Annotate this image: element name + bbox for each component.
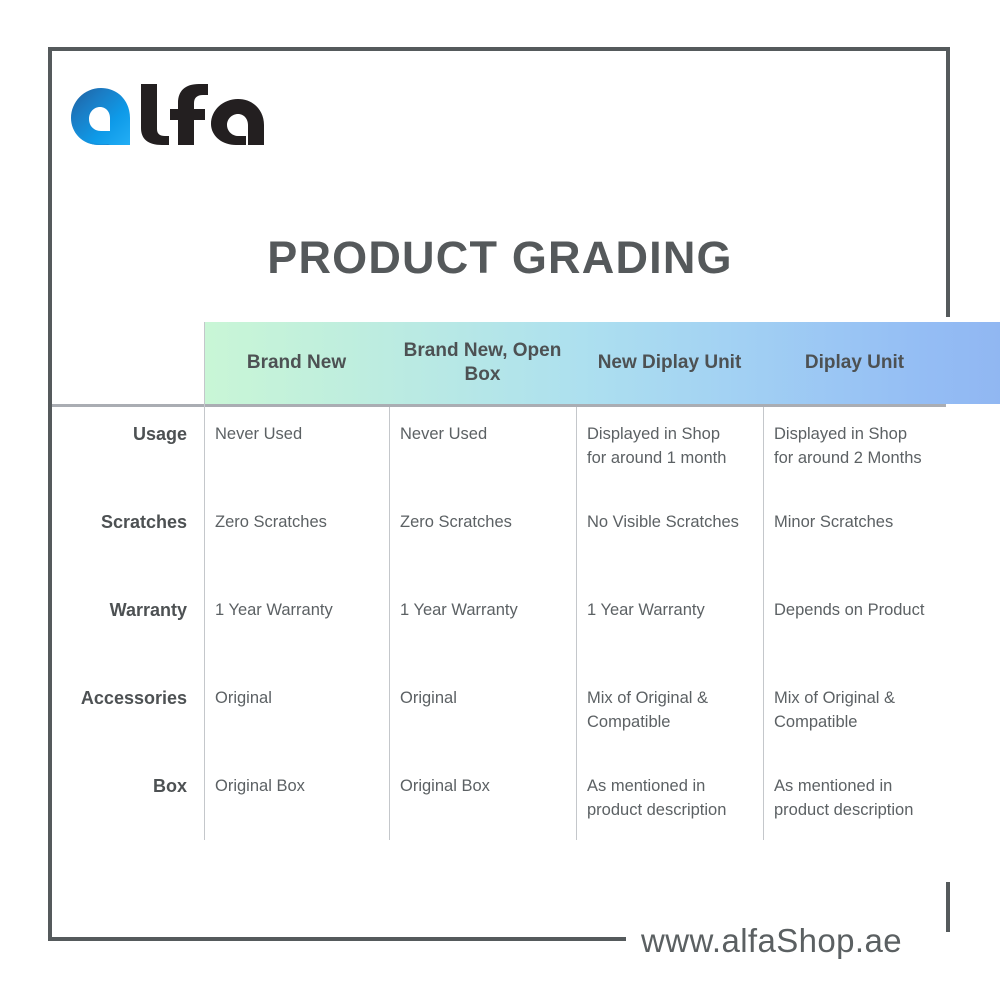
- cell-accessories-brand-new: Original: [204, 687, 389, 711]
- frame-border-bottom: [48, 937, 626, 941]
- product-grading-infographic: PRODUCT GRADING Brand New Brand New, Ope…: [0, 0, 1000, 1000]
- cell-usage-new-display-unit: Displayed in Shop for around 1 month: [576, 423, 763, 471]
- cell-scratches-new-display-unit: No Visible Scratches: [576, 511, 763, 535]
- cell-box-display-unit: As mentioned in product description: [763, 775, 946, 823]
- cell-scratches-display-unit: Minor Scratches: [763, 511, 946, 535]
- cell-accessories-display-unit: Mix of Original & Compatible: [763, 687, 946, 735]
- alfa-logo: [68, 82, 268, 152]
- product-grading-table: Brand New Brand New, Open Box New Diplay…: [52, 322, 946, 863]
- column-divider-0: [204, 322, 205, 840]
- column-header-brand-new-open-box: Brand New, Open Box: [389, 322, 576, 404]
- cell-warranty-brand-new: 1 Year Warranty: [204, 599, 389, 623]
- cell-warranty-open-box: 1 Year Warranty: [389, 599, 576, 623]
- table-header-row: Brand New Brand New, Open Box New Diplay…: [52, 322, 946, 404]
- frame-border-right-lower: [946, 882, 950, 932]
- cell-warranty-display-unit: Depends on Product: [763, 599, 946, 623]
- table-row: Scratches Zero Scratches Zero Scratches …: [52, 511, 946, 599]
- column-divider-2: [576, 407, 577, 840]
- cell-usage-display-unit: Displayed in Shop for around 2 Months: [763, 423, 946, 471]
- header-corner-cell: [52, 322, 204, 404]
- table-grid: Brand New Brand New, Open Box New Diplay…: [52, 322, 946, 863]
- row-label-scratches: Scratches: [52, 511, 204, 534]
- cell-scratches-open-box: Zero Scratches: [389, 511, 576, 535]
- column-divider-3: [763, 407, 764, 840]
- website-url: www.alfaShop.ae: [641, 922, 902, 960]
- cell-accessories-new-display-unit: Mix of Original & Compatible: [576, 687, 763, 735]
- table-row: Usage Never Used Never Used Displayed in…: [52, 407, 946, 511]
- logo-letter-a: [211, 99, 264, 145]
- table-row: Box Original Box Original Box As mention…: [52, 775, 946, 863]
- table-body: Usage Never Used Never Used Displayed in…: [52, 404, 946, 863]
- header-divider-line: [52, 404, 946, 407]
- cell-usage-open-box: Never Used: [389, 423, 576, 447]
- alfa-logo-icon: [68, 82, 268, 152]
- cell-usage-brand-new: Never Used: [204, 423, 389, 447]
- row-label-accessories: Accessories: [52, 687, 204, 710]
- row-label-box: Box: [52, 775, 204, 798]
- table-row: Warranty 1 Year Warranty 1 Year Warranty…: [52, 599, 946, 687]
- logo-letter-l: [141, 84, 169, 145]
- column-header-brand-new: Brand New: [204, 322, 389, 404]
- row-label-warranty: Warranty: [52, 599, 204, 622]
- column-header-new-display-unit: New Diplay Unit: [576, 322, 763, 404]
- table-row: Accessories Original Original Mix of Ori…: [52, 687, 946, 775]
- page-title: PRODUCT GRADING: [0, 232, 1000, 284]
- row-label-usage: Usage: [52, 423, 204, 446]
- column-divider-1: [389, 407, 390, 840]
- cell-box-open-box: Original Box: [389, 775, 576, 799]
- cell-box-brand-new: Original Box: [204, 775, 389, 799]
- cell-accessories-open-box: Original: [389, 687, 576, 711]
- column-header-display-unit: Diplay Unit: [763, 322, 946, 404]
- cell-warranty-new-display-unit: 1 Year Warranty: [576, 599, 763, 623]
- cell-box-new-display-unit: As mentioned in product description: [576, 775, 763, 823]
- frame-border-top: [48, 47, 950, 51]
- cell-scratches-brand-new: Zero Scratches: [204, 511, 389, 535]
- logo-letter-f: [170, 84, 208, 145]
